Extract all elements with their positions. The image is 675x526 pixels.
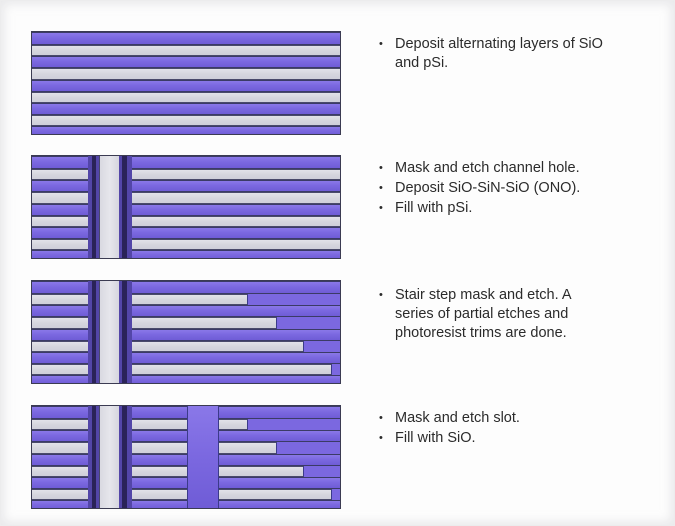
layer-sio (32, 45, 340, 56)
channel-hole-4 (88, 406, 132, 508)
layer-sio (32, 92, 340, 103)
layer-sio-stair (32, 294, 248, 305)
channel-psi-fill (99, 281, 121, 383)
bullet-label: Fill with pSi. (395, 199, 659, 218)
layer-sio (32, 68, 340, 80)
layer-psi (32, 329, 340, 341)
diagram-step-4 (31, 405, 341, 509)
bullet-item: • Mask and etch slot. (379, 409, 659, 428)
layer-psi (32, 281, 340, 294)
ono-layer (127, 281, 132, 383)
bullet-label: Mask and etch slot. (395, 409, 659, 428)
bullet-item: • Deposit SiO-SiN-SiO (ONO). (379, 179, 659, 198)
bullet-dot-icon: • (379, 199, 395, 218)
bullet-label: Stair step mask and etch. A series of pa… (395, 286, 659, 343)
layer-stack-4 (32, 406, 340, 508)
layer-stack-1 (32, 32, 340, 134)
layer-psi (32, 500, 340, 509)
layer-sio-stair (32, 489, 332, 500)
layer-psi (32, 352, 340, 364)
layer-psi (32, 126, 340, 135)
bullet-dot-icon: • (379, 429, 395, 448)
layer-sio-stair (32, 317, 277, 329)
ono-layer (127, 156, 132, 258)
layer-psi (32, 406, 340, 419)
layer-psi (32, 103, 340, 115)
bullet-label: Deposit SiO-SiN-SiO (ONO). (395, 179, 659, 198)
layer-psi (32, 227, 340, 239)
layer-psi (32, 250, 340, 259)
layer-sio (32, 115, 340, 126)
layer-psi (32, 80, 340, 92)
layer-psi (32, 375, 340, 384)
layer-psi (32, 56, 340, 68)
layer-stack-2 (32, 156, 340, 258)
sio-filled-slot (187, 406, 219, 508)
bullet-item: • Mask and etch channel hole. (379, 159, 659, 178)
layer-psi (32, 156, 340, 169)
layer-sio-stair (32, 364, 332, 375)
layer-sio-stair (32, 466, 304, 477)
bullet-dot-icon: • (379, 179, 395, 198)
layer-psi (32, 477, 340, 489)
step-2-text: • Mask and etch channel hole. • Deposit … (379, 159, 659, 219)
bullet-label: Fill with SiO. (395, 429, 659, 448)
bullet-dot-icon: • (379, 35, 395, 54)
layer-sio-stair (32, 341, 304, 352)
bullet-dot-icon: • (379, 286, 395, 305)
layer-sio-stair (32, 442, 277, 454)
ono-layer (127, 406, 132, 508)
channel-hole-2 (88, 156, 132, 258)
diagram-step-1 (31, 31, 341, 135)
bullet-label: Mask and etch channel hole. (395, 159, 659, 178)
layer-psi (32, 32, 340, 45)
step-3-text: • Stair step mask and etch. A series of … (379, 286, 659, 344)
diagram-step-3 (31, 280, 341, 384)
step-1-text: • Deposit alternating layers of SiO and … (379, 35, 659, 74)
layer-sio (32, 216, 340, 227)
diagram-canvas: • Deposit alternating layers of SiO and … (0, 0, 675, 526)
channel-psi-fill (99, 406, 121, 508)
bullet-label: Deposit alternating layers of SiO and pS… (395, 35, 659, 73)
bullet-item: • Fill with pSi. (379, 199, 659, 218)
layer-psi (32, 204, 340, 216)
layer-psi (32, 180, 340, 192)
channel-hole-3 (88, 281, 132, 383)
layer-sio (32, 169, 340, 180)
layer-stack-3 (32, 281, 340, 383)
bullet-item: • Stair step mask and etch. A series of … (379, 286, 659, 343)
channel-psi-fill (99, 156, 121, 258)
bullet-item: • Fill with SiO. (379, 429, 659, 448)
step-4-text: • Mask and etch slot. • Fill with SiO. (379, 409, 659, 449)
layer-psi (32, 430, 340, 442)
diagram-step-2 (31, 155, 341, 259)
layer-psi (32, 454, 340, 466)
bullet-dot-icon: • (379, 409, 395, 428)
layer-psi (32, 305, 340, 317)
bullet-dot-icon: • (379, 159, 395, 178)
bullet-item: • Deposit alternating layers of SiO and … (379, 35, 659, 73)
layer-sio (32, 239, 340, 250)
layer-sio (32, 192, 340, 204)
